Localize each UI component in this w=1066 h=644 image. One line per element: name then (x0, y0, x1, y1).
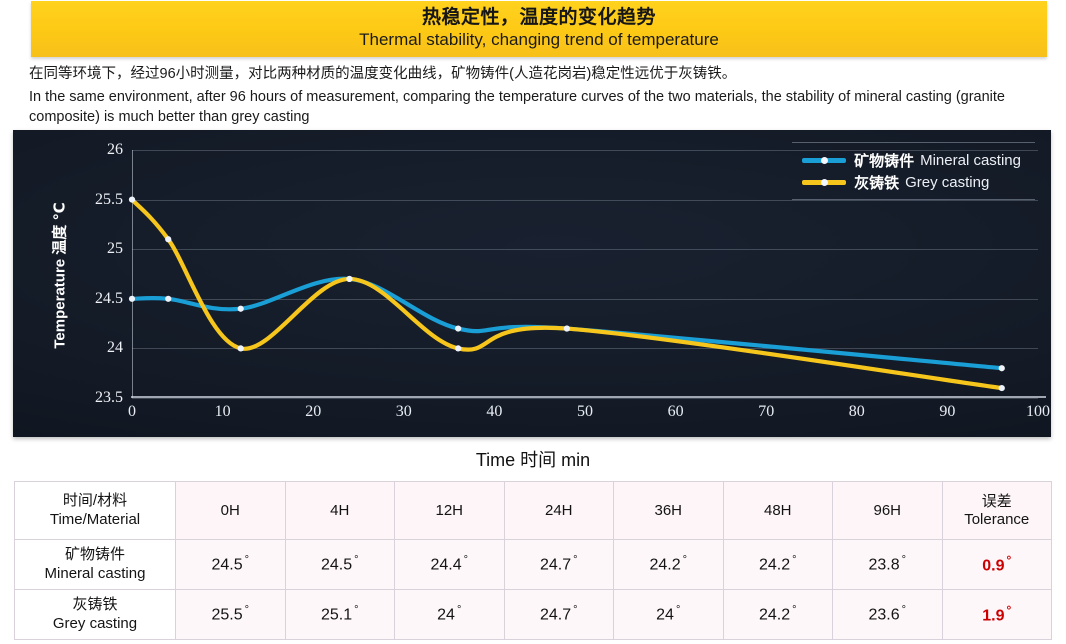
table-cell-temperature: 24.5° (176, 540, 286, 590)
table-row-label: 矿物铸件Mineral casting (15, 540, 176, 590)
data-point (564, 325, 570, 331)
y-axis-title-text: Temperature 温度 ℃ (49, 202, 70, 348)
data-point (999, 385, 1005, 391)
legend-label-en-mineral: Mineral casting (920, 152, 1021, 169)
table-cell-temperature: 24° (614, 590, 724, 640)
data-point (999, 365, 1005, 371)
data-point (238, 306, 244, 312)
banner-title-cn: 热稳定性，温度的变化趋势 (422, 7, 656, 29)
degree-symbol: ° (245, 604, 249, 616)
header-banner: 热稳定性，温度的变化趋势 Thermal stability, changing… (31, 1, 1047, 57)
table-header-cell: 96H (833, 482, 943, 540)
y-tick-label: 24.5 (95, 290, 123, 308)
header-label-cn: 误差 (943, 493, 1052, 511)
degree-symbol: ° (902, 604, 906, 616)
table-cell-temperature: 24° (395, 590, 505, 640)
table-header-row: 时间/材料Time/Material0H4H12H24H36H48H96H误差T… (15, 482, 1052, 540)
y-tick-label: 23.5 (95, 389, 123, 407)
header-label-en: Tolerance (943, 511, 1052, 529)
table-cell-temperature: 24.7° (504, 590, 614, 640)
temperature-value: 24.5 (321, 557, 352, 574)
table-row: 矿物铸件Mineral casting24.5°24.5°24.4°24.7°2… (15, 540, 1052, 590)
y-tick-label: 24 (107, 339, 123, 357)
header-label-en: 24H (505, 502, 614, 520)
x-tick-label: 90 (939, 403, 955, 421)
degree-symbol: ° (464, 554, 468, 566)
degree-symbol: ° (902, 554, 906, 566)
table-cell-temperature: 24.2° (723, 590, 833, 640)
legend-swatch-grey-casting (802, 180, 846, 185)
data-point (165, 236, 171, 242)
table-cell-tolerance: 0.9° (942, 540, 1052, 590)
measurement-table: 时间/材料Time/Material0H4H12H24H36H48H96H误差T… (14, 481, 1052, 640)
table-header-cell: 24H (504, 482, 614, 540)
header-label-en: 0H (176, 502, 285, 520)
legend-label-cn-mineral: 矿物铸件 (854, 150, 914, 171)
table-header-cell: 4H (285, 482, 395, 540)
table-header-cell: 48H (723, 482, 833, 540)
x-tick-label: 80 (849, 403, 865, 421)
degree-symbol: ° (245, 554, 249, 566)
header-label-en: 12H (395, 502, 504, 520)
table-cell-temperature: 24.7° (504, 540, 614, 590)
temperature-value: 24.4 (430, 557, 461, 574)
row-label-en: Mineral casting (15, 565, 175, 584)
description-block: 在同等环境下，经过96小时测量，对比两种材质的温度变化曲线，矿物铸件(人造花岗岩… (29, 64, 1054, 128)
y-tick-label: 26 (107, 141, 123, 159)
temperature-value: 24 (437, 607, 455, 624)
data-point (346, 276, 352, 282)
table-header-time-material: 时间/材料Time/Material (15, 482, 176, 540)
gridline (132, 398, 1038, 399)
header-label-en: 96H (833, 502, 942, 520)
data-point (455, 325, 461, 331)
table-header-cell: 12H (395, 482, 505, 540)
x-tick-label: 40 (486, 403, 502, 421)
legend-swatch-mineral-casting (802, 158, 846, 163)
degree-symbol: ° (573, 604, 577, 616)
tolerance-value: 0.9 (982, 558, 1004, 575)
table-header-cell: 36H (614, 482, 724, 540)
description-en: In the same environment, after 96 hours … (29, 87, 1054, 128)
header-label-en: Time/Material (15, 511, 175, 530)
tolerance-value: 1.9 (982, 608, 1004, 625)
chart-legend: 矿物铸件 Mineral casting 灰铸铁 Grey casting (792, 142, 1035, 200)
data-point (129, 197, 135, 203)
chart-panel: Temperature 温度 ℃ 23.52424.52525.526 0102… (13, 130, 1051, 437)
data-point (165, 296, 171, 302)
series-line-grey-casting (132, 200, 1002, 388)
legend-item-grey-casting[interactable]: 灰铸铁 Grey casting (802, 171, 1021, 193)
table-cell-temperature: 23.6° (833, 590, 943, 640)
x-tick-label: 30 (396, 403, 412, 421)
x-tick-label: 70 (758, 403, 774, 421)
degree-symbol: ° (354, 604, 358, 616)
data-point (238, 345, 244, 351)
table-cell-temperature: 24.2° (723, 540, 833, 590)
table-header-cell: 0H (176, 482, 286, 540)
row-label-cn: 矿物铸件 (15, 546, 175, 565)
temperature-value: 24.2 (649, 557, 680, 574)
temperature-value: 25.5 (211, 607, 242, 624)
table-cell-tolerance: 1.9° (942, 590, 1052, 640)
temperature-value: 24.2 (759, 557, 790, 574)
data-point (129, 296, 135, 302)
x-tick-label: 0 (128, 403, 136, 421)
table-cell-temperature: 24.4° (395, 540, 505, 590)
temperature-value: 25.1 (321, 607, 352, 624)
header-label-en: 36H (614, 502, 723, 520)
table-header-cell: 误差Tolerance (942, 482, 1052, 540)
legend-item-mineral-casting[interactable]: 矿物铸件 Mineral casting (802, 149, 1021, 171)
banner-title-en: Thermal stability, changing trend of tem… (359, 30, 719, 50)
x-tick-label: 60 (668, 403, 684, 421)
degree-symbol: ° (354, 554, 358, 566)
temperature-value: 23.6 (868, 607, 899, 624)
row-label-cn: 灰铸铁 (15, 596, 175, 615)
x-tick-label: 10 (215, 403, 231, 421)
degree-symbol: ° (1006, 553, 1011, 567)
table-cell-temperature: 23.8° (833, 540, 943, 590)
legend-label-cn-grey: 灰铸铁 (854, 172, 899, 193)
degree-symbol: ° (683, 554, 687, 566)
degree-symbol: ° (573, 554, 577, 566)
x-axis-title: Time 时间 min (0, 446, 1066, 472)
table-cell-temperature: 25.1° (285, 590, 395, 640)
table-cell-temperature: 24.2° (614, 540, 724, 590)
y-tick-label: 25.5 (95, 191, 123, 209)
y-tick-label: 25 (107, 240, 123, 258)
data-point (455, 345, 461, 351)
table-cell-temperature: 25.5° (176, 590, 286, 640)
header-label-en: 4H (286, 502, 395, 520)
header-label-cn: 时间/材料 (15, 492, 175, 511)
degree-symbol: ° (792, 554, 796, 566)
header-label-en: 48H (724, 502, 833, 520)
degree-symbol: ° (792, 604, 796, 616)
degree-symbol: ° (457, 604, 461, 616)
temperature-value: 24.7 (540, 557, 571, 574)
row-label-en: Grey casting (15, 615, 175, 634)
temperature-value: 24.2 (759, 607, 790, 624)
series-line-mineral-casting (132, 279, 1002, 369)
x-tick-label: 100 (1026, 403, 1050, 421)
legend-label-en-grey: Grey casting (905, 174, 989, 191)
description-cn: 在同等环境下，经过96小时测量，对比两种材质的温度变化曲线，矿物铸件(人造花岗岩… (29, 64, 1054, 86)
temperature-value: 23.8 (868, 557, 899, 574)
x-tick-label: 50 (577, 403, 593, 421)
degree-symbol: ° (1006, 603, 1011, 617)
y-axis-title: Temperature 温度 ℃ (46, 170, 72, 380)
temperature-value: 24 (656, 607, 674, 624)
temperature-value: 24.5 (211, 557, 242, 574)
table-cell-temperature: 24.5° (285, 540, 395, 590)
table-row-label: 灰铸铁Grey casting (15, 590, 176, 640)
table-row: 灰铸铁Grey casting25.5°25.1°24°24.7°24°24.2… (15, 590, 1052, 640)
degree-symbol: ° (676, 604, 680, 616)
x-tick-label: 20 (305, 403, 321, 421)
temperature-value: 24.7 (540, 607, 571, 624)
